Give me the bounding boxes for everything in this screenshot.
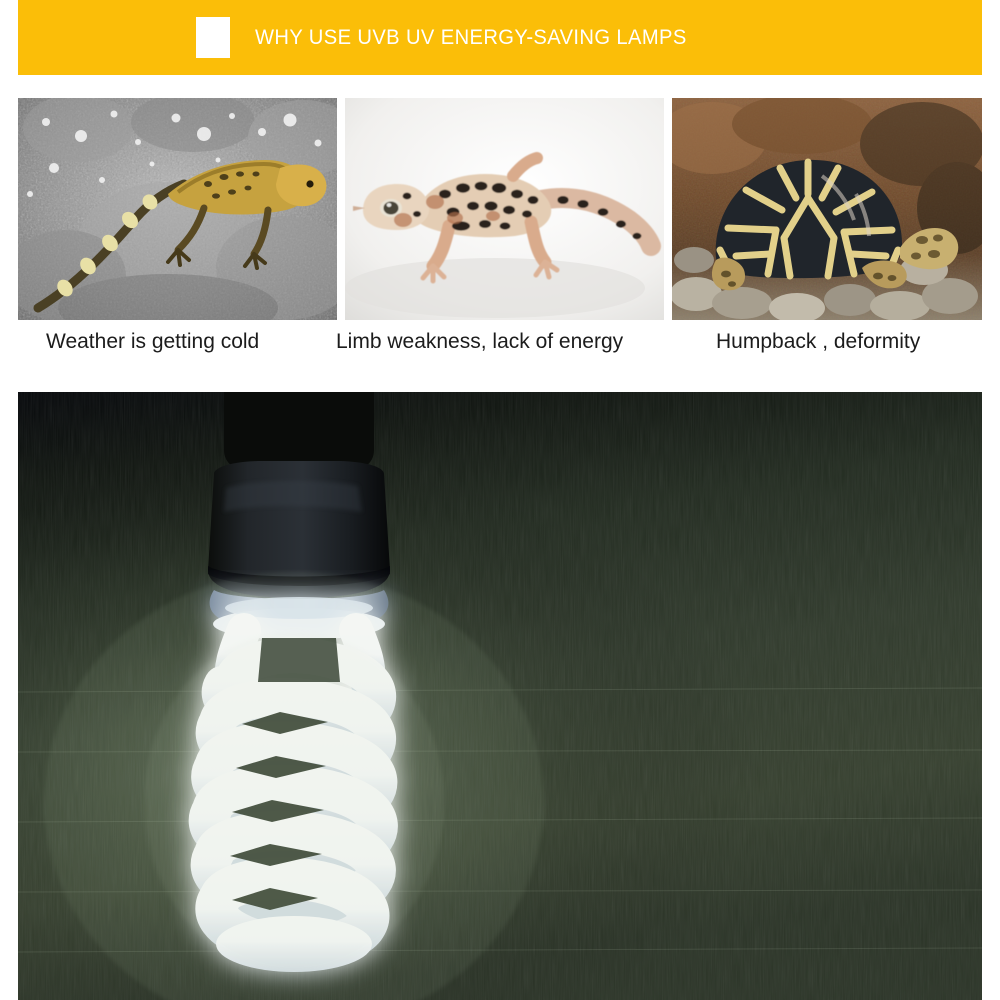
caption-lizard: Weather is getting cold [46,330,259,354]
white-square-icon [196,17,230,58]
product-detail-page: WHY USE UVB UV ENERGY-SAVING LAMPS [0,0,1000,1000]
symptom-caption-row: Weather is getting cold Limb weakness, l… [18,330,982,380]
gecko-photo [345,98,664,320]
thumbnail-lizard[interactable] [18,98,337,320]
section-header-banner: WHY USE UVB UV ENERGY-SAVING LAMPS [18,0,982,75]
tortoise-photo [672,98,982,320]
section-header-title: WHY USE UVB UV ENERGY-SAVING LAMPS [255,26,687,50]
lamp-illustration [18,392,982,1000]
hero-lamp-photo[interactable]: FOR PET DESIGN [18,392,982,1000]
symptom-thumbnail-row [18,98,982,320]
caption-gecko: Limb weakness, lack of energy [336,330,623,354]
thumbnail-tortoise[interactable] [672,98,982,320]
thumbnail-gecko[interactable] [345,98,664,320]
caption-tortoise: Humpback , deformity [716,330,920,354]
lizard-photo [18,98,337,320]
